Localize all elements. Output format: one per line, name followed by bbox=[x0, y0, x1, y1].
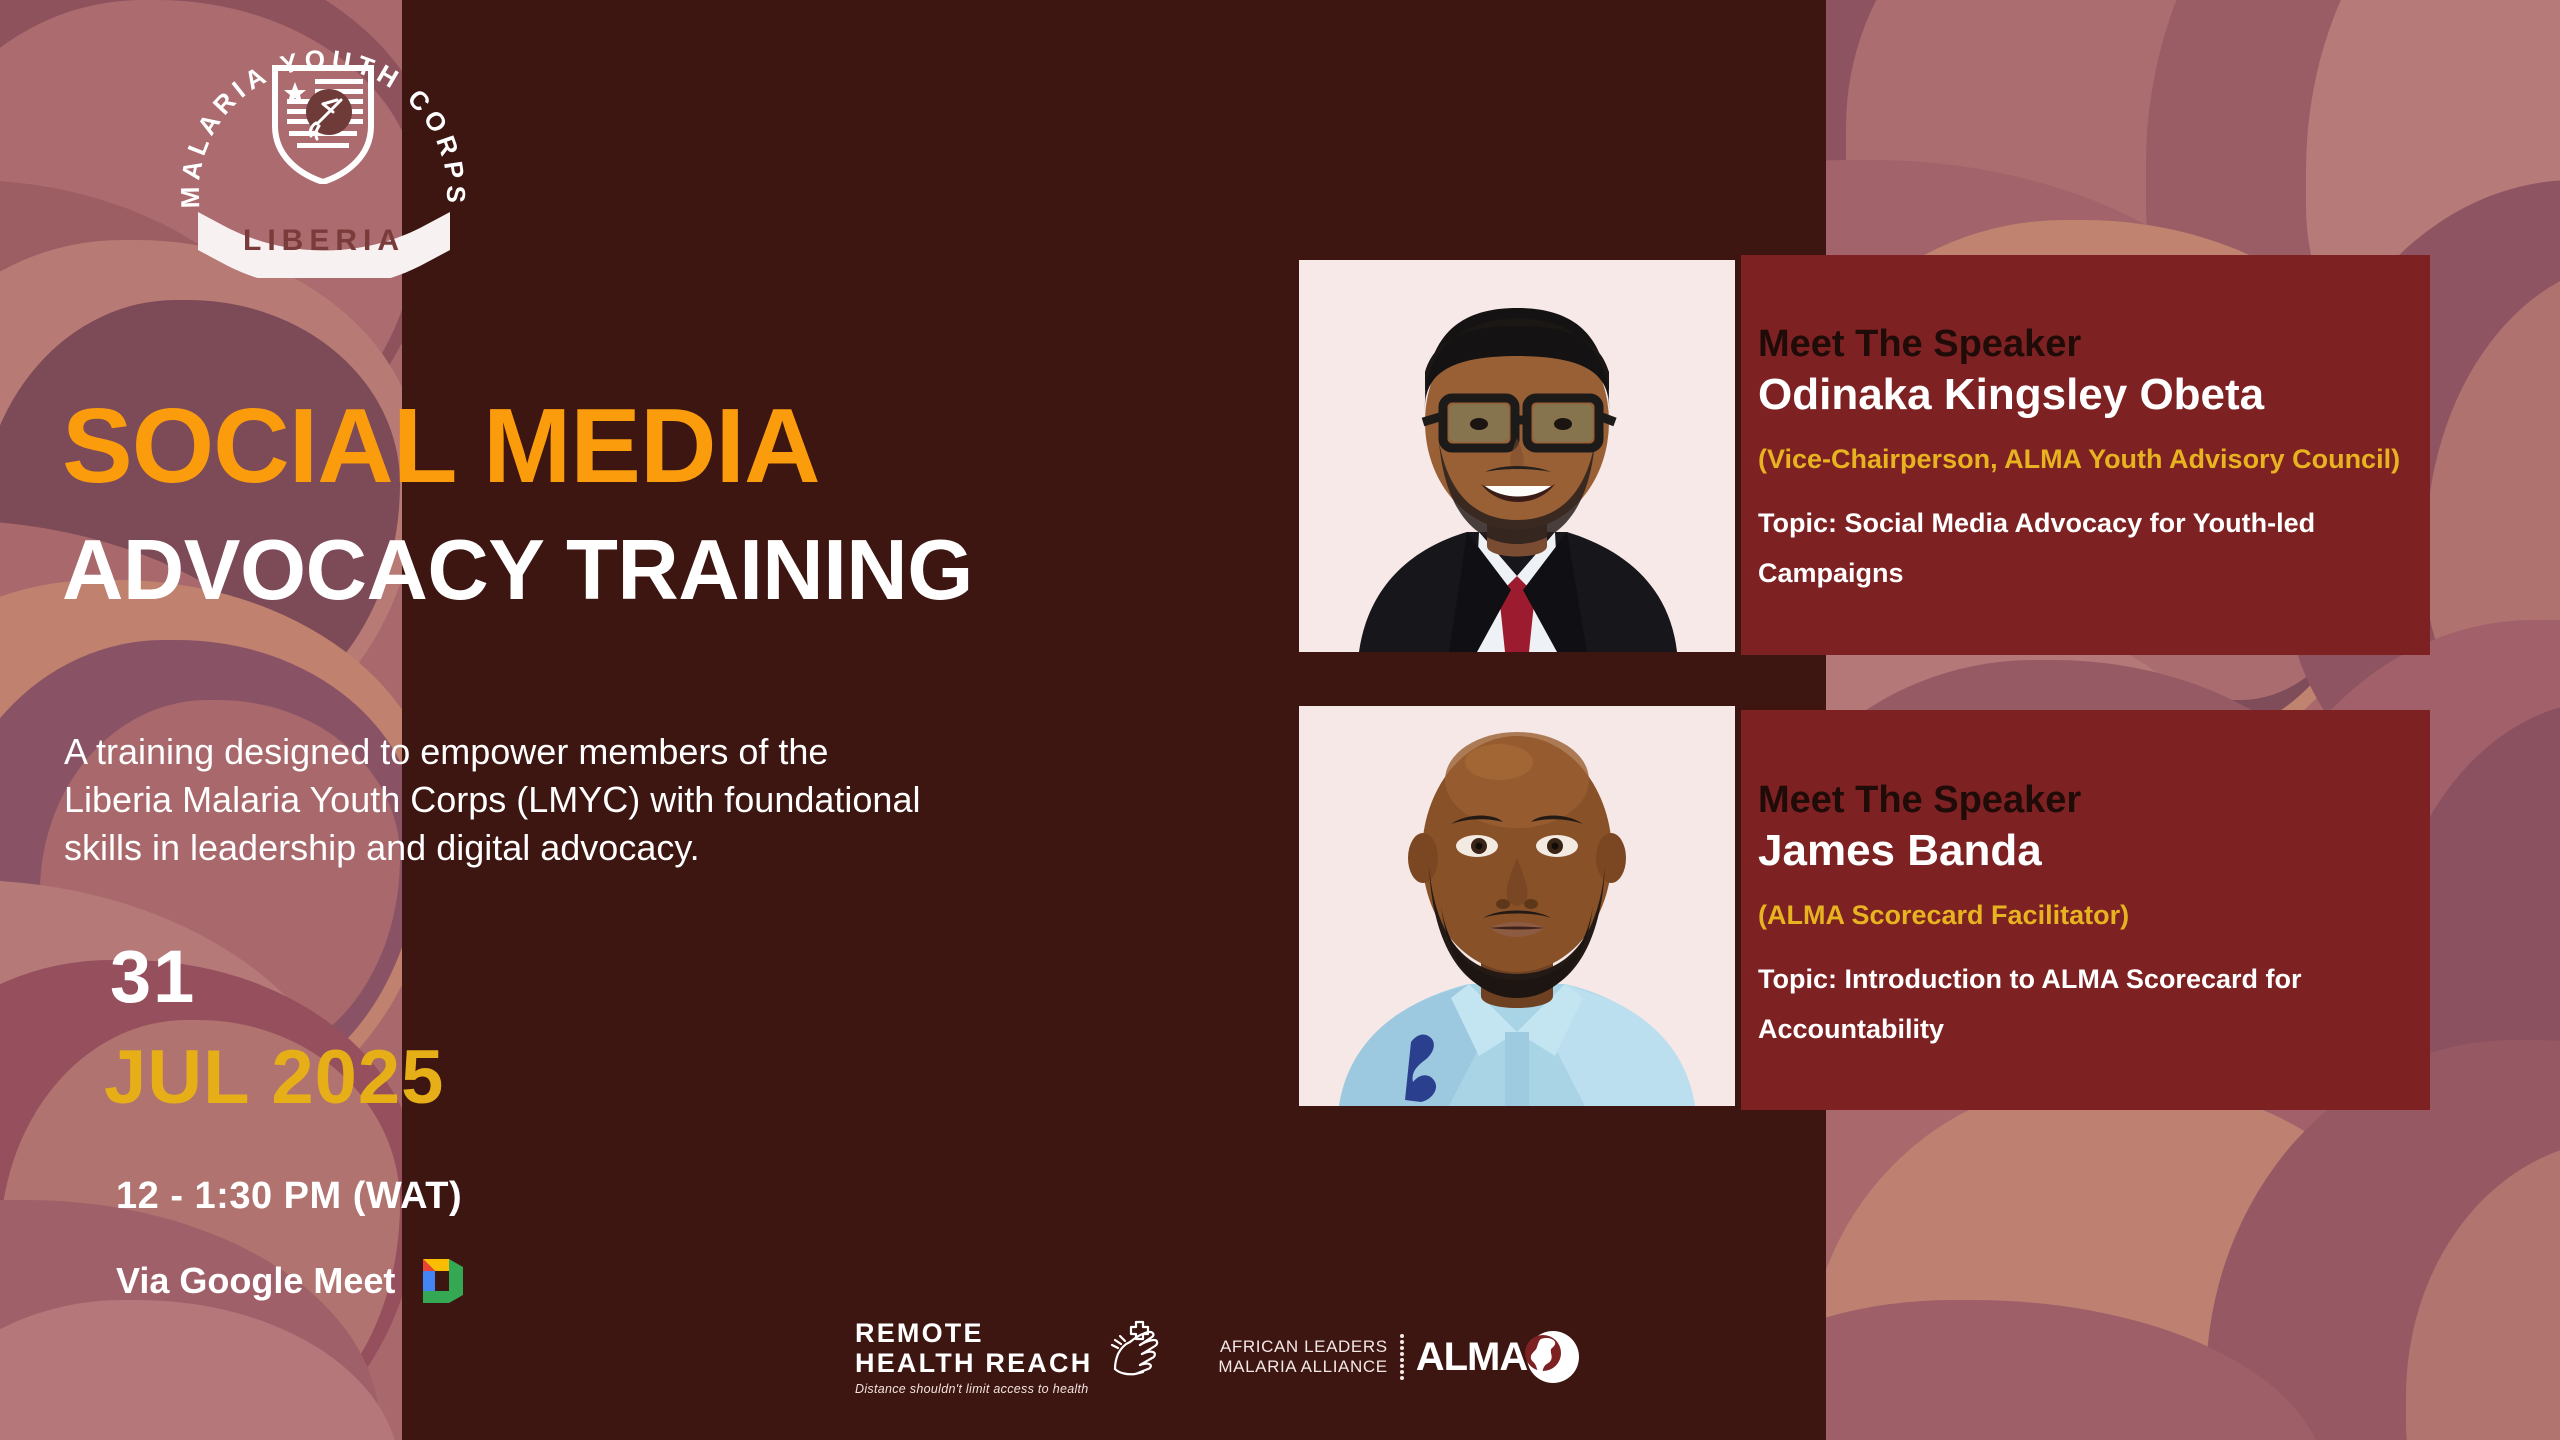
speaker-portrait-1-illustration bbox=[1299, 260, 1735, 652]
rhr-tagline: Distance shouldn't limit access to healt… bbox=[855, 1382, 1092, 1396]
speaker-portrait-2-illustration bbox=[1299, 706, 1735, 1106]
speaker-1-meet-label: Meet The Speaker bbox=[1758, 322, 2418, 367]
speaker-1-topic-line-1: Topic: Social Media Advocacy for Youth-l… bbox=[1758, 499, 2418, 549]
rhr-line-2: HEALTH REACH bbox=[855, 1348, 1092, 1378]
speaker-1-topic-line-2: Campaigns bbox=[1758, 549, 2418, 599]
speaker-2-name: James Banda bbox=[1758, 825, 2418, 877]
event-month-year: JUL 2025 bbox=[104, 1040, 444, 1116]
headline-line-2: ADVOCACY TRAINING bbox=[62, 526, 1302, 615]
mosquito-shield-icon bbox=[271, 60, 375, 184]
event-platform-label: Via Google Meet bbox=[116, 1260, 395, 1302]
rhr-line-1: REMOTE bbox=[855, 1318, 1092, 1348]
speaker-2-topic-line-1: Topic: Introduction to ALMA Scorecard fo… bbox=[1758, 955, 2418, 1005]
logo-ribbon: LIBERIA bbox=[198, 206, 450, 278]
flyer-canvas: MALARIA YOUTH CORPS bbox=[0, 0, 2560, 1440]
speaker-2-topic-line-2: Accountability bbox=[1758, 1005, 2418, 1055]
alma-line-2: MALARIA ALLIANCE bbox=[1218, 1357, 1387, 1378]
google-meet-icon bbox=[409, 1255, 475, 1307]
description-line-3: skills in leadership and digital advocac… bbox=[64, 824, 1184, 872]
speaker-2-role: (ALMA Scorecard Facilitator) bbox=[1758, 899, 2418, 931]
malaria-youth-corps-logo: MALARIA YOUTH CORPS bbox=[178, 18, 468, 290]
remote-health-reach-logo: REMOTE HEALTH REACH Distance shouldn't l… bbox=[855, 1318, 1162, 1396]
description-line-1: A training designed to empower members o… bbox=[64, 728, 1184, 776]
speaker-text-2: Meet The Speaker James Banda (ALMA Score… bbox=[1758, 778, 2418, 1055]
alma-logo: AFRICAN LEADERS MALARIA ALLIANCE ALMA bbox=[1218, 1329, 1581, 1385]
speaker-1-role: (Vice-Chairperson, ALMA Youth Advisory C… bbox=[1758, 443, 2418, 475]
alma-line-1: AFRICAN LEADERS bbox=[1218, 1337, 1387, 1358]
footer-logos: REMOTE HEALTH REACH Distance shouldn't l… bbox=[855, 1318, 1581, 1396]
event-day: 31 bbox=[110, 940, 196, 1014]
description-line-2: Liberia Malaria Youth Corps (LMYC) with … bbox=[64, 776, 1184, 824]
headline-line-1: SOCIAL MEDIA bbox=[62, 392, 1302, 500]
logo-ribbon-label: LIBERIA bbox=[243, 224, 405, 257]
event-time: 12 - 1:30 PM (WAT) bbox=[116, 1175, 462, 1218]
speaker-2-meet-label: Meet The Speaker bbox=[1758, 778, 2418, 823]
event-description: A training designed to empower members o… bbox=[64, 728, 1184, 872]
speaker-photo-2 bbox=[1293, 700, 1741, 1112]
africa-globe-icon bbox=[1521, 1329, 1581, 1385]
alma-wordmark: ALMA bbox=[1416, 1335, 1528, 1380]
speaker-1-name: Odinaka Kingsley Obeta bbox=[1758, 369, 2418, 421]
speaker-text-1: Meet The Speaker Odinaka Kingsley Obeta … bbox=[1758, 322, 2418, 599]
speaker-photo-1 bbox=[1293, 254, 1741, 658]
page-title: SOCIAL MEDIA ADVOCACY TRAINING bbox=[62, 392, 1302, 615]
event-platform: Via Google Meet bbox=[116, 1255, 475, 1307]
alma-divider-dots bbox=[1400, 1334, 1404, 1380]
helping-hands-icon bbox=[1100, 1318, 1162, 1376]
